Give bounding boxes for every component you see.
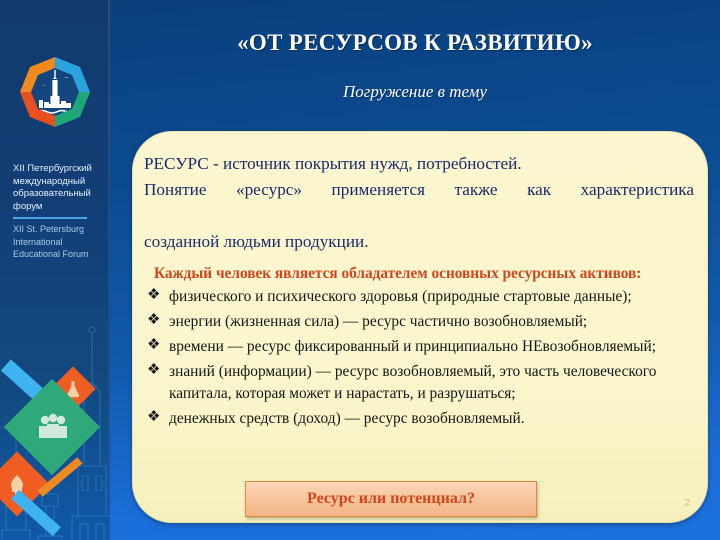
page-number: 2: [684, 498, 690, 509]
definition-line-1: РЕСУРС - источник покрытия нужд, потребн…: [144, 151, 694, 177]
list-item-label: денежных средств (доход) — ресурс возобн…: [169, 408, 692, 430]
slide-subtitle: Погружение в тему: [115, 82, 715, 102]
cta-question-banner[interactable]: Ресурс или потенциал?: [245, 481, 537, 517]
decorative-diamonds: [0, 345, 110, 540]
brand-divider: [13, 217, 87, 219]
brand-name-ru-line2: международный: [13, 176, 105, 189]
list-item: ❖ времени — ресурс фиксированный и принц…: [144, 336, 694, 358]
resource-assets-list: ❖ физического и психического здоровья (п…: [144, 286, 694, 430]
presentation-slide: XII Петербургский международный образова…: [0, 0, 720, 540]
diamond-bullet-icon: ❖: [147, 335, 160, 357]
definition-line-2: Понятие «ресурс» применяется также как х…: [144, 177, 694, 229]
list-item: ❖ знаний (информации) — ресурс возобновл…: [144, 361, 694, 404]
diamond-bullet-icon: ❖: [147, 310, 160, 332]
brand-name-en-line2: International: [13, 236, 105, 248]
brand-name-en-line3: Educational Forum: [13, 248, 105, 260]
brand-name-en-line1: XII St. Petersburg: [13, 223, 105, 235]
brand-name-ru-line4: форум: [13, 201, 105, 214]
content-card: РЕСУРС - источник покрытия нужд, потребн…: [132, 131, 708, 523]
list-item-label: знаний (информации) — ресурс возобновляе…: [169, 361, 692, 404]
panel-edge-highlight: [108, 0, 110, 540]
petersburg-forum-octagon-logo-icon: [14, 55, 96, 147]
cta-label: Ресурс или потенциал?: [307, 490, 475, 508]
left-brand-panel: XII Петербургский международный образова…: [0, 0, 110, 540]
diamond-bullet-icon: ❖: [147, 285, 160, 307]
list-item-label: энергии (жизненная сила) — ресурс частич…: [169, 311, 692, 333]
diamond-bullet-icon: ❖: [147, 360, 160, 382]
list-item: ❖ денежных средств (доход) — ресурс возо…: [144, 408, 694, 430]
assets-heading: Каждый человек является обладателем осно…: [154, 264, 694, 284]
list-item: ❖ энергии (жизненная сила) — ресурс част…: [144, 311, 694, 333]
list-item: ❖ физического и психического здоровья (п…: [144, 286, 694, 308]
diamond-bullet-icon: ❖: [147, 407, 160, 429]
definition-line-3: созданной людьми продукции.: [144, 229, 694, 255]
list-item-label: физического и психического здоровья (при…: [169, 286, 692, 308]
brand-name-ru-line1: XII Петербургский: [13, 163, 105, 176]
slide-title: «ОТ РЕСУРСОВ К РАЗВИТИЮ»: [115, 30, 715, 56]
brand-name-ru-line3: образовательный: [13, 188, 105, 201]
brand-name-block: XII Петербургский международный образова…: [13, 163, 105, 261]
definition-line-2-text: Понятие «ресурс» применяется также как х…: [144, 177, 694, 229]
list-item-label: времени — ресурс фиксированный и принцип…: [169, 336, 692, 358]
